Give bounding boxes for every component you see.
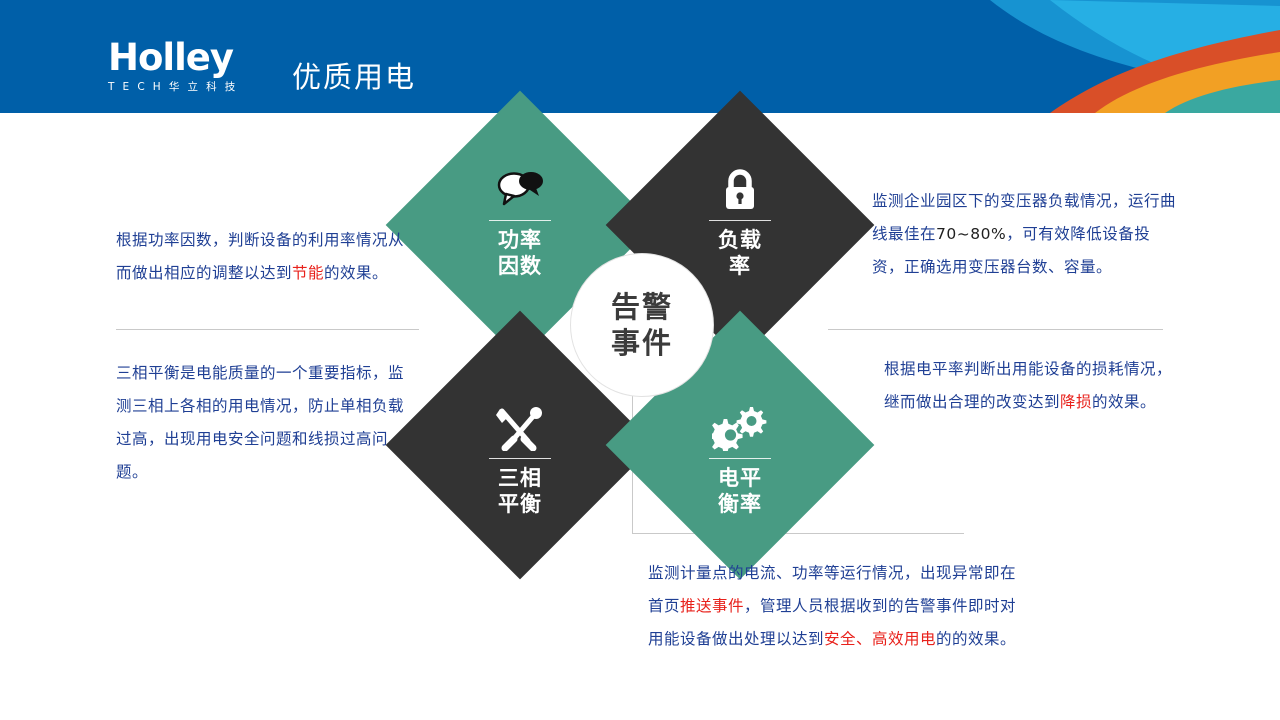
label-line-1: 负载 bbox=[718, 227, 762, 253]
center-label-line-2: 事件 bbox=[611, 325, 673, 361]
text-three-phase-description: 三相平衡是电能质量的一个重要指标，监测三相上各相的用电情况，防止单相负载过高，出… bbox=[116, 357, 416, 489]
diamond-three-phase-balance-content: 三相 平衡 bbox=[425, 350, 615, 540]
holley-logo: Holley T E C H 华 立 科 技 bbox=[108, 40, 258, 95]
text-part: 的效果。 bbox=[324, 264, 388, 282]
text-highlight: 节能 bbox=[292, 264, 324, 282]
text-highlight-2: 安全、高效用电 bbox=[824, 630, 936, 648]
label-line-2: 率 bbox=[718, 253, 762, 279]
text-load-rate-description: 监测企业园区下的变压器负载情况，运行曲线最佳在70~80%，可有效降低设备投资，… bbox=[872, 185, 1177, 284]
divider-left bbox=[116, 329, 419, 330]
logo-subtext: T E C H 华 立 科 技 bbox=[108, 79, 258, 94]
label-line-1: 三相 bbox=[498, 465, 542, 491]
text-power-factor-description: 根据功率因数，判断设备的利用率情况从而做出相应的调整以达到节能的效果。 bbox=[116, 224, 416, 290]
label-line-2: 因数 bbox=[498, 253, 542, 279]
text-part: 的的效果。 bbox=[936, 630, 1016, 648]
diamond-rule bbox=[489, 458, 551, 459]
logo-wordmark: Holley bbox=[108, 40, 258, 76]
diamond-rule bbox=[709, 220, 771, 221]
diamond-three-phase-balance-label: 三相 平衡 bbox=[498, 465, 542, 517]
text-highlight: 降损 bbox=[1060, 393, 1092, 411]
slide-header: Holley T E C H 华 立 科 技 优质用电 bbox=[0, 0, 1280, 113]
label-line-2: 平衡 bbox=[498, 491, 542, 517]
diamond-rule bbox=[709, 458, 771, 459]
text-highlight-range: 70~80% bbox=[936, 225, 1006, 243]
text-part: 三相平衡是电能质量的一个重要指标，监测三相上各相的用电情况，防止单相负载过高，出… bbox=[116, 364, 404, 481]
text-highlight-1: 推送事件 bbox=[680, 597, 744, 615]
diamond-load-rate-label: 负载 率 bbox=[718, 227, 762, 279]
divider-right bbox=[828, 329, 1163, 330]
diamond-level-balance-rate-label: 电平 衡率 bbox=[718, 465, 762, 517]
label-line-2: 衡率 bbox=[718, 491, 762, 517]
slide: Holley T E C H 华 立 科 技 优质用电 功率 因数 bbox=[0, 0, 1280, 720]
diamond-rule bbox=[489, 220, 551, 221]
label-line-1: 电平 bbox=[718, 465, 762, 491]
center-label-line-1: 告警 bbox=[611, 289, 673, 325]
label-line-1: 功率 bbox=[498, 227, 542, 253]
tools-icon bbox=[494, 402, 546, 454]
text-alarm-events-description: 监测计量点的电流、功率等运行情况，出现异常即在首页推送事件，管理人员根据收到的告… bbox=[648, 557, 1018, 656]
lock-icon bbox=[718, 164, 762, 216]
page-title: 优质用电 bbox=[292, 54, 416, 96]
text-part: 的效果。 bbox=[1092, 393, 1156, 411]
header-decoration bbox=[720, 0, 1280, 113]
text-level-rate-description: 根据电平率判断出用能设备的损耗情况，继而做出合理的改变达到降损的效果。 bbox=[884, 353, 1176, 419]
speech-bubbles-icon bbox=[492, 164, 548, 216]
gears-icon bbox=[712, 402, 768, 454]
diamond-power-factor-label: 功率 因数 bbox=[498, 227, 542, 279]
center-circle-alarm-events: 告警 事件 bbox=[570, 253, 714, 397]
